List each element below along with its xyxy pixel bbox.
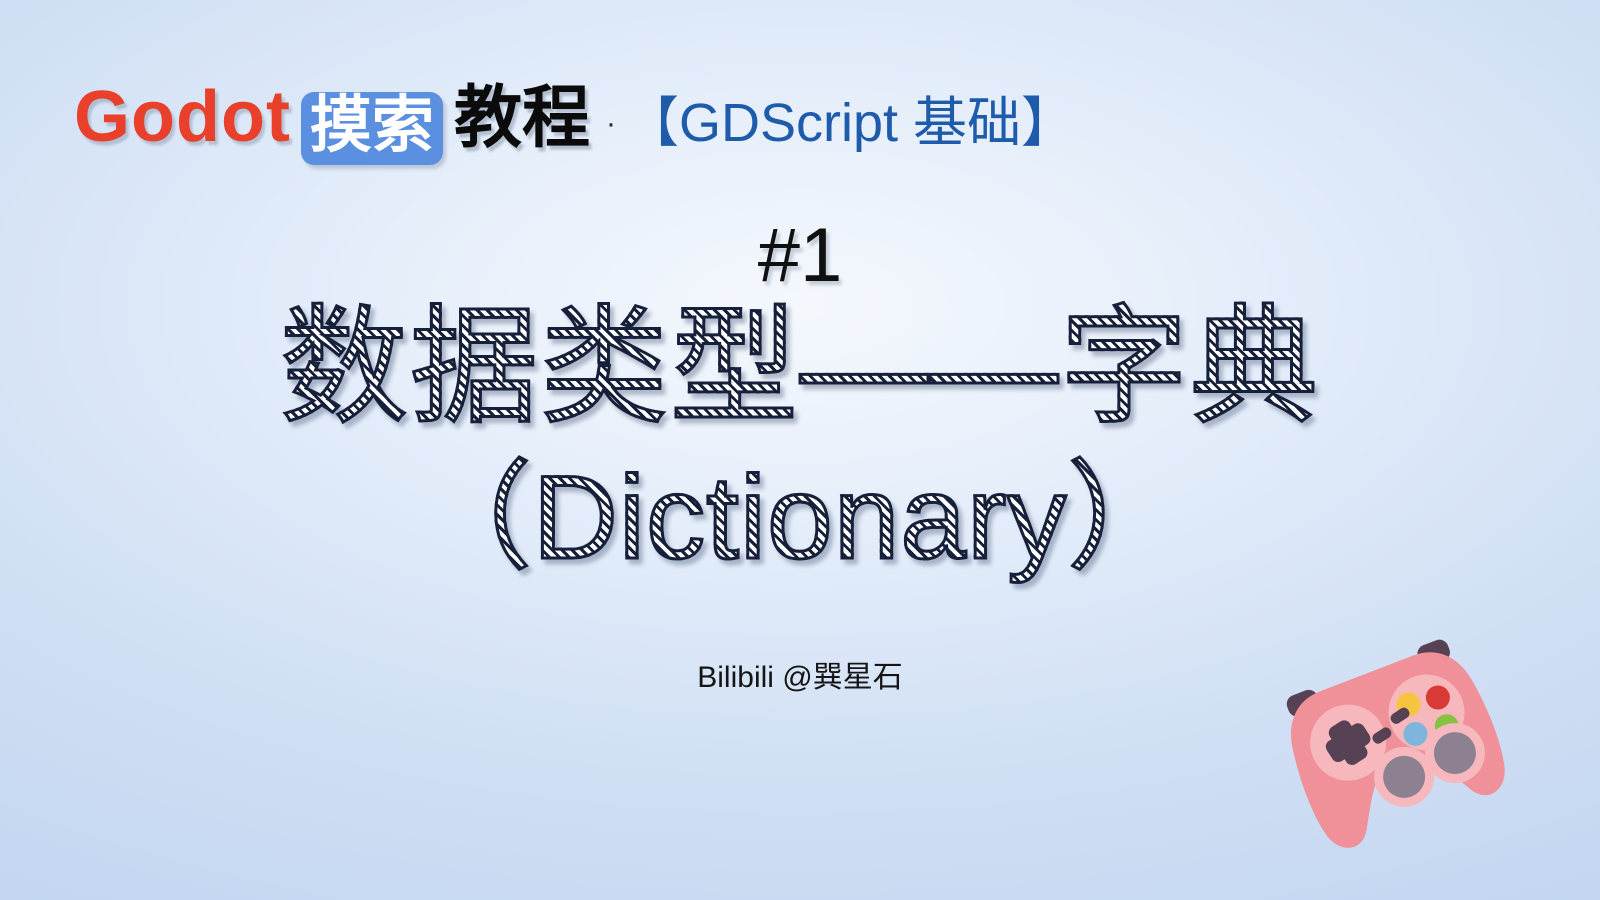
header-title-bar: Godot 摸索 教程 · 【GDScript 基础】 [74,62,1075,161]
slide-title-chinese: 数据类型——字典 [0,296,1600,439]
slide-canvas: Godot 摸索 教程 · 【GDScript 基础】 #1 数据类型——字典 … [0,0,1600,900]
header-separator-dot: · [606,107,616,141]
badge-mosuo: 摸索 [301,92,443,165]
episode-number: #1 [0,212,1600,299]
gamepad-icon [1268,606,1518,856]
slide-title-english: （Dictionary） [0,452,1600,584]
header-subtitle-gdscript: 【GDScript 基础】 [625,78,1075,157]
header-word-tutorial: 教程 [454,62,590,161]
brand-godot-text: Godot [74,76,291,158]
